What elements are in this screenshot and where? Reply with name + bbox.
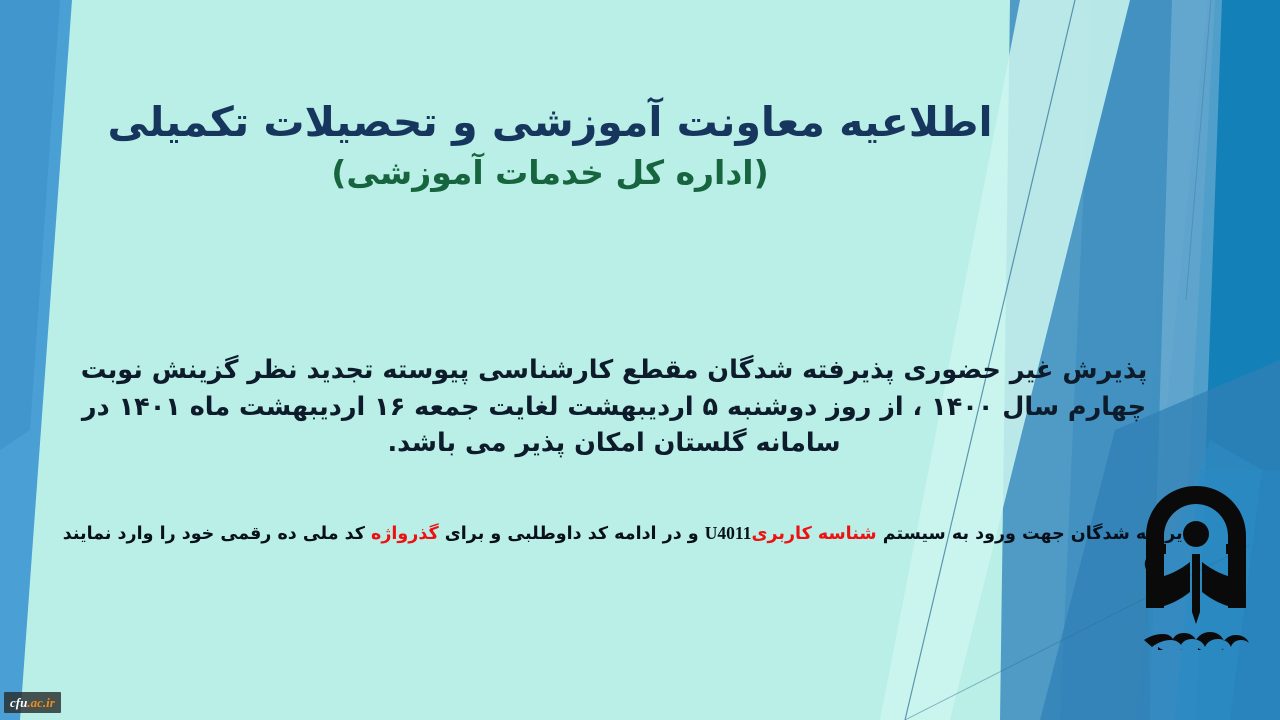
slide-text-layer: اطلاعیه معاونت آموزشی و تحصیلات تکمیلی (…	[0, 0, 1280, 720]
keyword-username: شناسه کاربری	[751, 524, 876, 544]
note-text-part-3: کد ملی ده رقمی خود را وارد نمایند	[63, 524, 371, 544]
site-watermark: cfu.ac.ir	[4, 692, 61, 713]
announcement-body: پذیرش غیر حضوری پذیرفته شدگان مقطع کارشن…	[44, 352, 1184, 462]
watermark-prefix: cfu	[10, 695, 27, 710]
farhangian-university-logo	[1128, 482, 1264, 650]
body-block: پذیرش غیر حضوری پذیرفته شدگان مقطع کارشن…	[44, 352, 1184, 462]
logo-left-bar	[1146, 544, 1166, 554]
user-code: U4011	[705, 523, 752, 543]
title-block: اطلاعیه معاونت آموزشی و تحصیلات تکمیلی (…	[0, 96, 1100, 195]
watermark-tld: .ac.ir	[27, 695, 54, 710]
note-block: پذیرفته شدگان جهت ورود به سیستم شناسه کا…	[0, 521, 1262, 547]
logo-caption	[1144, 632, 1249, 650]
page-title: اطلاعیه معاونت آموزشی و تحصیلات تکمیلی	[0, 96, 1100, 148]
logo-pen-stem	[1192, 554, 1200, 624]
keyword-password: گذرواژه	[371, 524, 439, 544]
page-subtitle: (اداره کل خدمات آموزشی)	[0, 152, 1100, 195]
note-text-part-2: و در ادامه کد داوطلبی و برای	[439, 524, 705, 544]
login-instructions: پذیرفته شدگان جهت ورود به سیستم شناسه کا…	[0, 521, 1262, 547]
announcement-slide: اطلاعیه معاونت آموزشی و تحصیلات تکمیلی (…	[0, 0, 1280, 720]
logo-head	[1183, 521, 1209, 547]
logo-right-bar	[1226, 544, 1246, 554]
watermark-text: cfu.ac.ir	[10, 695, 55, 710]
